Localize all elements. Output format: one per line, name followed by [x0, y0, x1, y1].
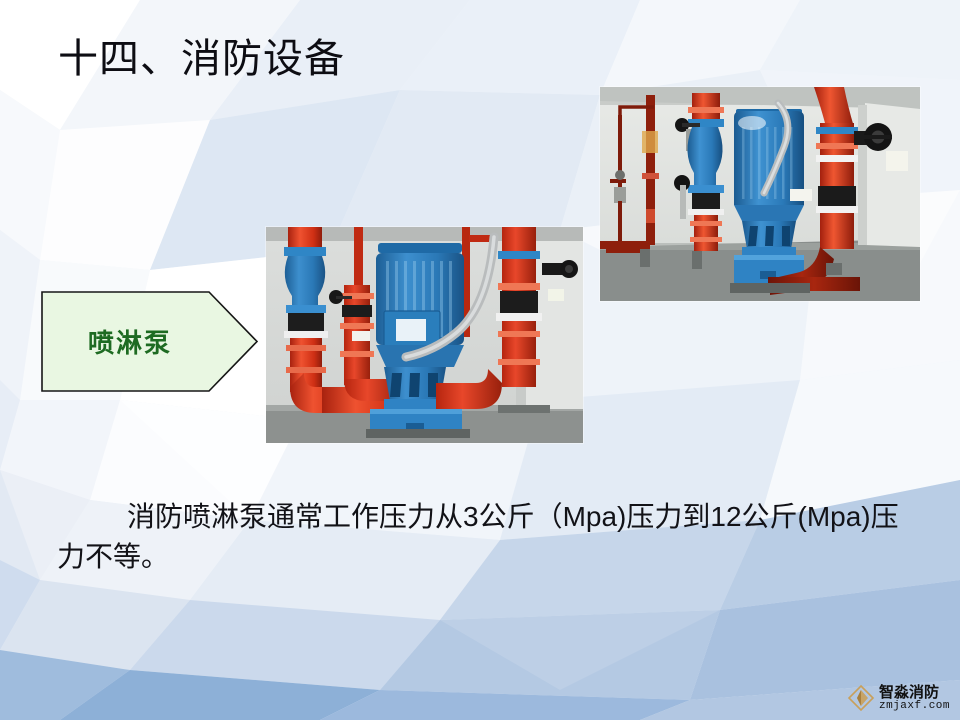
- watermark-url: zmjaxf.com: [879, 701, 950, 712]
- watermark-brand: 智淼消防: [879, 685, 950, 700]
- callout-label: 喷淋泵: [41, 291, 219, 392]
- watermark: 智淼消防 zmjaxf.com: [847, 684, 950, 712]
- slide-title: 十四、消防设备: [58, 36, 345, 82]
- sprinkler-pump-photo-right: [600, 87, 920, 301]
- callout-pentagon: 喷淋泵: [41, 291, 258, 392]
- watermark-text: 智淼消防 zmjaxf.com: [879, 685, 950, 712]
- body-paragraph: 消防喷淋泵通常工作压力从3公斤（Mpa)压力到12公斤(Mpa)压力不等。: [57, 497, 907, 577]
- diamond-logo-icon: [847, 684, 875, 712]
- slide-canvas: 十四、消防设备 喷淋泵: [0, 0, 960, 720]
- sprinkler-pump-photo-left: [266, 227, 583, 443]
- pump-photo-left-graphic: [266, 227, 583, 443]
- pump-photo-right-graphic: [600, 87, 920, 301]
